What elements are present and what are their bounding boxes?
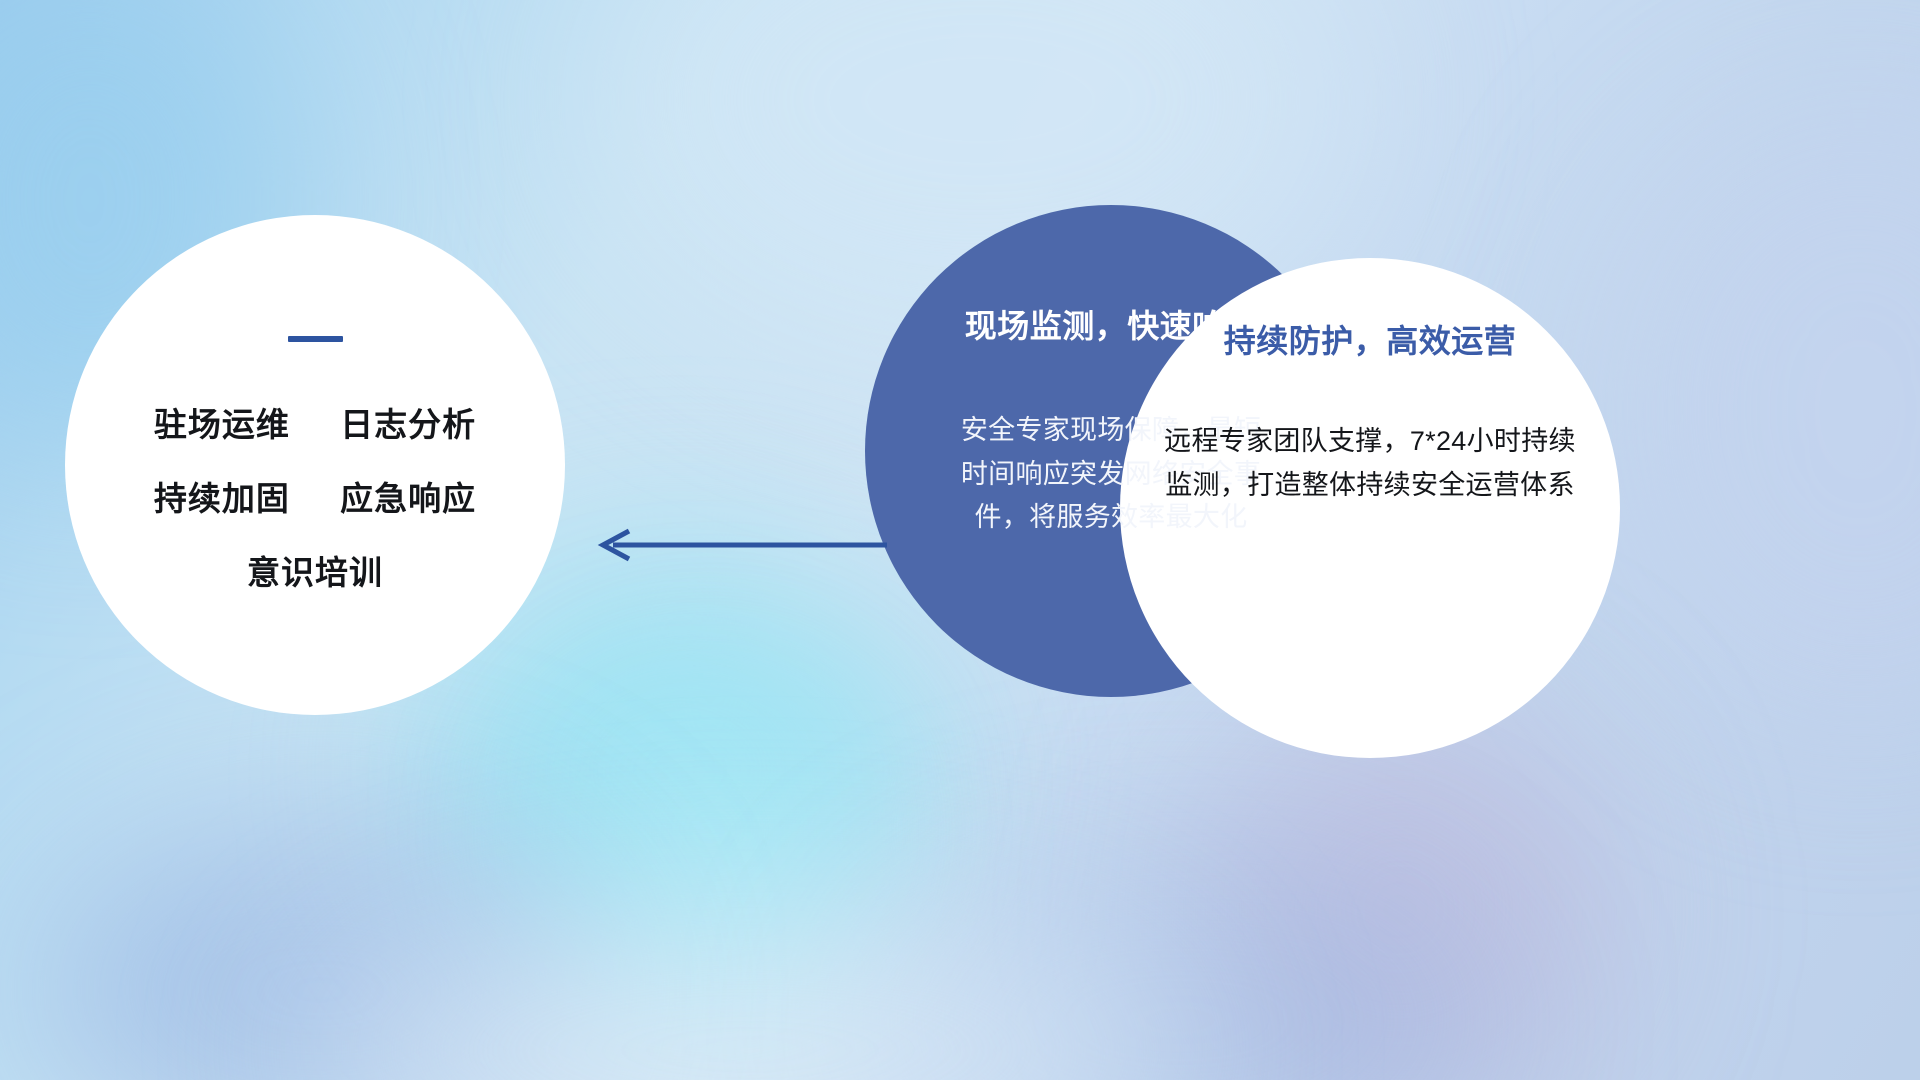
connector-arrow <box>595 520 890 570</box>
right-card-title: 持续防护，高效运营 <box>1224 316 1517 362</box>
background-blob-blue-left <box>40 820 600 1080</box>
left-card-line-2-b: 应急响应 <box>340 480 476 517</box>
right-card: 持续防护，高效运营 远程专家团队支撑，7*24小时持续监测，打造整体持续安全运营… <box>1120 258 1620 758</box>
slide-canvas: 驻场运维 日志分析 持续加固 应急响应 意识培训 现场监测，快速响应 安全专家现… <box>0 0 1920 1080</box>
horizontal-dash-icon <box>288 336 343 342</box>
left-card-text-group: 驻场运维 日志分析 持续加固 应急响应 意识培训 <box>154 398 476 594</box>
background-blob-white-bottom <box>300 900 1200 1080</box>
background-blob-cyan-small <box>560 700 860 960</box>
left-card-line-1: 驻场运维 日志分析 <box>154 398 476 446</box>
right-card-body: 远程专家团队支撑，7*24小时持续监测，打造整体持续安全运营体系 <box>1160 420 1580 507</box>
background-blob-blue-right <box>860 860 1500 1080</box>
arrow-left-icon <box>595 520 890 570</box>
left-card-line-3-a: 意识培训 <box>247 554 383 591</box>
left-card-line-1-b: 日志分析 <box>340 406 476 443</box>
left-card-line-2-a: 持续加固 <box>154 480 290 517</box>
left-card: 驻场运维 日志分析 持续加固 应急响应 意识培训 <box>65 215 565 715</box>
background-blob-top-right <box>1600 100 1920 720</box>
left-card-line-3: 意识培训 <box>154 546 476 594</box>
left-card-line-2: 持续加固 应急响应 <box>154 472 476 520</box>
left-card-line-1-a: 驻场运维 <box>154 406 290 443</box>
